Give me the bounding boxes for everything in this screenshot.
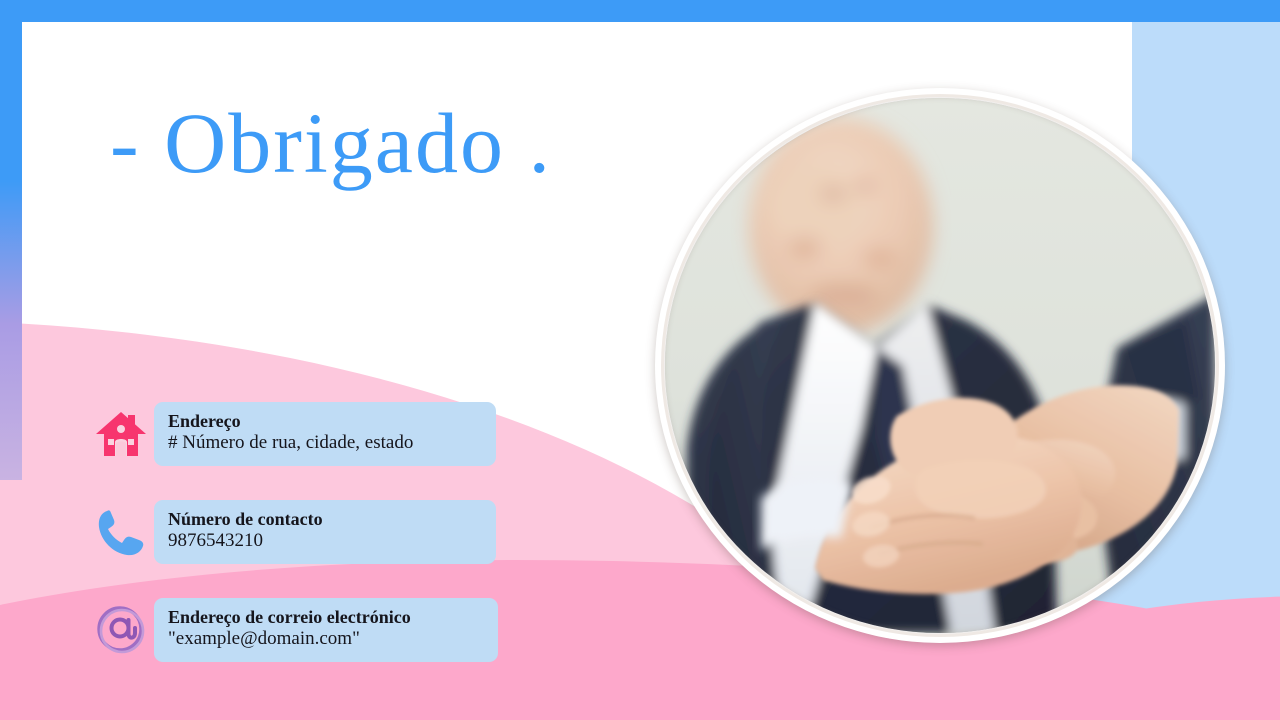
contact-box-phone: Número de contacto 9876543210	[154, 500, 496, 564]
contact-row-address[interactable]: Endereço # Número de rua, cidade, estado	[92, 396, 522, 472]
thank-you-slide: - Obrigado .	[0, 0, 1280, 720]
contact-row-phone[interactable]: Número de contacto 9876543210	[92, 494, 522, 570]
contact-list: Endereço # Número de rua, cidade, estado…	[92, 396, 522, 690]
contact-row-email[interactable]: Endereço de correio electrónico "example…	[92, 592, 522, 668]
frame-border-left	[0, 0, 22, 460]
home-icon	[92, 405, 150, 463]
contact-title-address: Endereço	[168, 411, 480, 432]
at-sign-icon	[92, 601, 150, 659]
contact-value-phone: 9876543210	[168, 530, 480, 553]
contact-value-email: "example@domain.com"	[168, 628, 482, 651]
handshake-photo	[665, 98, 1215, 633]
frame-border-top	[0, 0, 1280, 22]
page-title: - Obrigado .	[110, 93, 552, 193]
contact-title-phone: Número de contacto	[168, 509, 480, 530]
contact-title-email: Endereço de correio electrónico	[168, 607, 482, 628]
handshake-photo-frame	[655, 88, 1225, 643]
contact-value-address: # Número de rua, cidade, estado	[168, 432, 480, 455]
contact-box-address: Endereço # Número de rua, cidade, estado	[154, 402, 496, 466]
frame-border-left-fade	[0, 180, 22, 480]
contact-box-email: Endereço de correio electrónico "example…	[154, 598, 498, 662]
phone-icon	[92, 503, 150, 561]
